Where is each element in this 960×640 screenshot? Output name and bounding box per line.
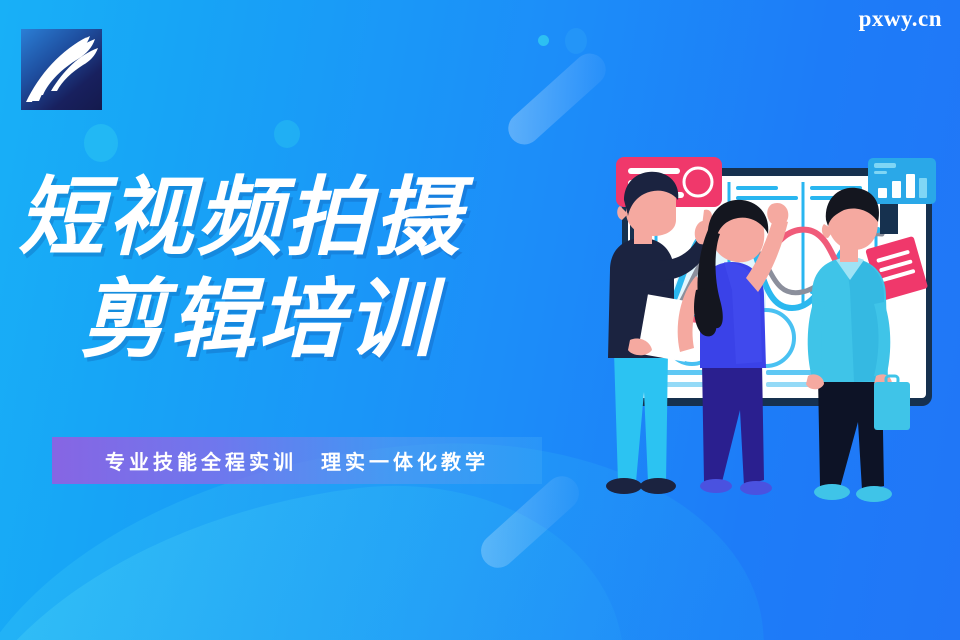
decor-diagonal-streak-bottom xyxy=(474,469,586,575)
hero-illustration xyxy=(596,130,960,530)
promo-banner: pxwy.cn 短视频拍摄 剪辑培训 专业技能全程实训 理实一体化教学 xyxy=(0,0,960,640)
headline-line-2: 剪辑培训 xyxy=(0,277,620,363)
headline-block: 短视频拍摄 剪辑培训 xyxy=(0,175,620,363)
decor-circle-blob-1 xyxy=(84,124,118,162)
site-watermark: pxwy.cn xyxy=(859,6,942,32)
company-logo[interactable] xyxy=(21,29,102,110)
headline-line-1: 短视频拍摄 xyxy=(0,175,620,261)
briefcase xyxy=(874,376,910,430)
decor-dot-2 xyxy=(565,28,587,54)
bottom-wave-shape-2 xyxy=(0,458,635,640)
subtitle-text: 专业技能全程实训 理实一体化教学 xyxy=(105,446,489,475)
decor-circle-blob-2 xyxy=(274,120,300,148)
subtitle-bar: 专业技能全程实训 理实一体化教学 xyxy=(52,437,542,484)
decor-dot-1 xyxy=(538,35,549,46)
